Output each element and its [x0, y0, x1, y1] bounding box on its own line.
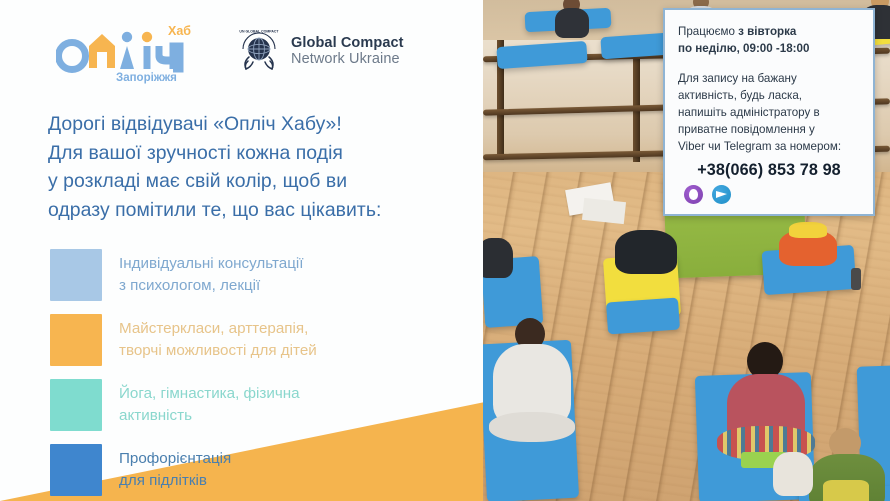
- global-compact-logo: UN GLOBAL COMPACT Global Compact Network…: [236, 28, 404, 74]
- svg-text:Запоріжжя: Запоріжжя: [116, 72, 177, 84]
- global-compact-wordmark: Global Compact Network Ukraine: [291, 35, 404, 67]
- legend-label-line2: активність: [119, 405, 300, 427]
- working-hours: Працюємо з вівторка по неділю, 09:00 -18…: [678, 24, 860, 57]
- legend-swatch: [50, 314, 102, 366]
- booking-note: Для запису на бажану активність, будь ла…: [678, 71, 860, 156]
- phone-number[interactable]: +38(066) 853 78 98: [678, 161, 860, 180]
- headline-line-1: Дорогі відвідувачі «Опліч Хабу»!: [48, 110, 468, 139]
- legend-label: Йога, гімнастика, фізична активність: [119, 379, 300, 427]
- legend-label: Індивідуальні консультації з психологом,…: [119, 249, 304, 297]
- viber-icon[interactable]: [684, 185, 703, 204]
- note-line-3: напишіть адміністратору в: [678, 105, 860, 122]
- info-panel: Хаб Запоріжжя: [0, 0, 483, 501]
- legend-item: Йога, гімнастика, фізична активність: [50, 379, 470, 431]
- logo-row: Хаб Запоріжжя: [0, 0, 483, 102]
- paper-sheet: [582, 198, 626, 224]
- note-line-1: Для запису на бажану: [678, 71, 860, 88]
- poster-graphic: Працюємо з вівторка по неділю, 09:00 -18…: [0, 0, 890, 501]
- legend-item: Майстеркласи, арттерапія, творчі можливо…: [50, 314, 470, 366]
- legend-swatch: [50, 249, 102, 301]
- partner-name-line1: Global Compact: [291, 35, 404, 51]
- legend-label-line2: для підлітків: [119, 470, 231, 492]
- yoga-mat: [606, 298, 680, 335]
- legend-swatch: [50, 444, 102, 496]
- svg-text:UN GLOBAL COMPACT: UN GLOBAL COMPACT: [239, 30, 279, 34]
- legend-label-line1: Майстеркласи, арттерапія,: [119, 318, 317, 340]
- legend-item: Індивідуальні консультації з психологом,…: [50, 249, 470, 301]
- legend-label-line1: Профорієнтація: [119, 448, 231, 470]
- messenger-icons: [678, 185, 860, 204]
- un-globe-emblem: UN GLOBAL COMPACT: [236, 28, 282, 74]
- legend-label: Майстеркласи, арттерапія, творчі можливо…: [119, 314, 317, 362]
- headline-line-4: одразу помітили те, що вас цікавить:: [48, 196, 468, 225]
- info-card: Працюємо з вівторка по неділю, 09:00 -18…: [663, 8, 875, 216]
- legend-label-line2: творчі можливості для дітей: [119, 340, 317, 362]
- partner-name-line2: Network Ukraine: [291, 51, 404, 67]
- headline-line-2: Для вашої зручності кожна подія: [48, 139, 468, 168]
- legend-swatch: [50, 379, 102, 431]
- note-line-5: Viber чи Telegram за номером:: [678, 139, 860, 156]
- telegram-icon[interactable]: [712, 185, 731, 204]
- color-legend: Індивідуальні консультації з психологом,…: [50, 249, 470, 501]
- hours-days: з вівторка: [738, 25, 796, 38]
- hours-prefix: Працюємо: [678, 25, 738, 38]
- oplich-hub-logo: Хаб Запоріжжя: [56, 22, 206, 84]
- water-bottle: [851, 268, 861, 290]
- headline-line-3: у розкладі має свій колір, щоб ви: [48, 167, 468, 196]
- hours-range: по неділю, 09:00 -18:00: [678, 42, 809, 55]
- legend-label-line2: з психологом, лекції: [119, 275, 304, 297]
- yoga-studio-photo: Працюємо з вівторка по неділю, 09:00 -18…: [483, 0, 890, 501]
- legend-item: Профорієнтація для підлітків: [50, 444, 470, 496]
- note-line-4: приватне повідомлення у: [678, 122, 860, 139]
- legend-label-line1: Індивідуальні консультації: [119, 253, 304, 275]
- svg-text:Хаб: Хаб: [168, 24, 191, 38]
- headline-text: Дорогі відвідувачі «Опліч Хабу»! Для ваш…: [48, 110, 468, 224]
- note-line-2: активність, будь ласка,: [678, 88, 860, 105]
- legend-label-line1: Йога, гімнастика, фізична: [119, 383, 300, 405]
- legend-label: Профорієнтація для підлітків: [119, 444, 231, 492]
